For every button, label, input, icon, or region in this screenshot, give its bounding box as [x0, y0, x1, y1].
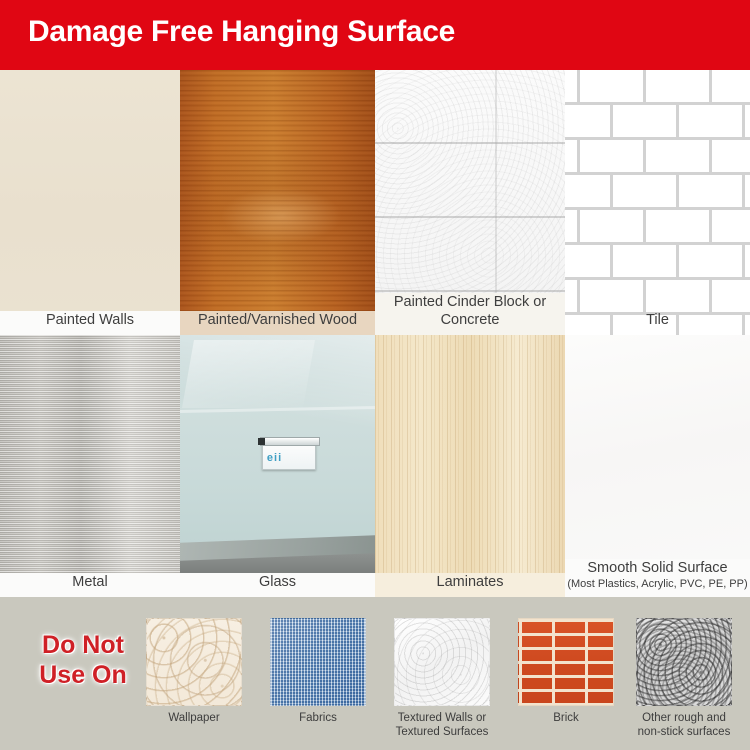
do-not-use-label: Textured Walls or Textured Surfaces	[394, 712, 490, 739]
stucco-texture	[394, 618, 490, 706]
brushed-metal-texture	[0, 335, 180, 597]
surface-cell-painted-walls: Painted Walls	[0, 70, 180, 335]
rough-stone-texture	[636, 618, 732, 706]
surface-label: Metal	[0, 573, 180, 597]
surface-label: Tile	[565, 311, 750, 335]
surface-cell-cinder-block: Painted Cinder Block or Concrete	[375, 70, 565, 335]
do-not-use-item-wallpaper: Wallpaper	[146, 618, 242, 726]
painted-wall-texture	[0, 70, 180, 335]
surface-cell-laminates: Laminates	[375, 335, 565, 597]
do-not-use-title: Do Not Use On	[18, 630, 148, 690]
glass-sign-plaque: eii	[262, 442, 316, 470]
tile-vertical-grout-lines	[565, 70, 750, 335]
glass-panel-texture: eii	[180, 335, 375, 597]
smooth-plastic-texture	[565, 335, 750, 597]
do-not-use-label: Wallpaper	[146, 712, 242, 726]
do-not-use-label: Brick	[518, 712, 614, 726]
glass-sign-text: eii	[267, 452, 282, 464]
surface-label: Painted/Varnished Wood	[180, 311, 375, 335]
surface-label: Painted Walls	[0, 311, 180, 335]
surface-cell-tile: Tile	[565, 70, 750, 335]
do-not-use-item-fabrics: Fabrics	[270, 618, 366, 726]
do-not-use-title-line-2: Use On	[39, 661, 127, 689]
do-not-use-item-textured-walls: Textured Walls or Textured Surfaces	[394, 618, 490, 739]
do-not-use-label: Other rough and non-stick surfaces	[636, 712, 732, 739]
page-title: Damage Free Hanging Surface	[28, 15, 455, 49]
fabric-denim-texture	[270, 618, 366, 706]
surface-label-main: Smooth Solid Surface	[587, 560, 727, 576]
surface-label: Smooth Solid Surface (Most Plastics, Acr…	[565, 559, 750, 597]
surface-label: Laminates	[375, 573, 565, 597]
wallpaper-texture	[146, 618, 242, 706]
glass-sign-bar	[260, 437, 320, 446]
infographic-page: Damage Free Hanging Surface Painted Wall…	[0, 0, 750, 750]
do-not-use-label: Fabrics	[270, 712, 366, 726]
laminate-wood-texture	[375, 335, 565, 597]
header-banner: Damage Free Hanging Surface	[0, 0, 750, 70]
glass-reflection-highlight	[182, 340, 315, 408]
surface-cell-painted-wood: Painted/Varnished Wood	[180, 70, 375, 335]
subway-tile-texture	[565, 70, 750, 335]
brick-texture	[518, 618, 614, 706]
surface-cell-smooth-solid: Smooth Solid Surface (Most Plastics, Acr…	[565, 335, 750, 597]
do-not-use-item-brick: Brick	[518, 618, 614, 726]
approved-surface-grid: Painted Walls Painted/Varnished Wood Pai…	[0, 70, 750, 597]
surface-label: Painted Cinder Block or Concrete	[375, 293, 565, 335]
surface-cell-glass: eii Glass	[180, 335, 375, 597]
do-not-use-item-rough-surfaces: Other rough and non-stick surfaces	[636, 618, 732, 739]
surface-label-sub: (Most Plastics, Acrylic, PVC, PE, PP)	[565, 577, 750, 591]
surface-label: Glass	[180, 573, 375, 597]
do-not-use-title-line-1: Do Not	[42, 631, 124, 659]
surface-cell-metal: Metal	[0, 335, 180, 597]
varnished-wood-texture	[180, 70, 375, 335]
